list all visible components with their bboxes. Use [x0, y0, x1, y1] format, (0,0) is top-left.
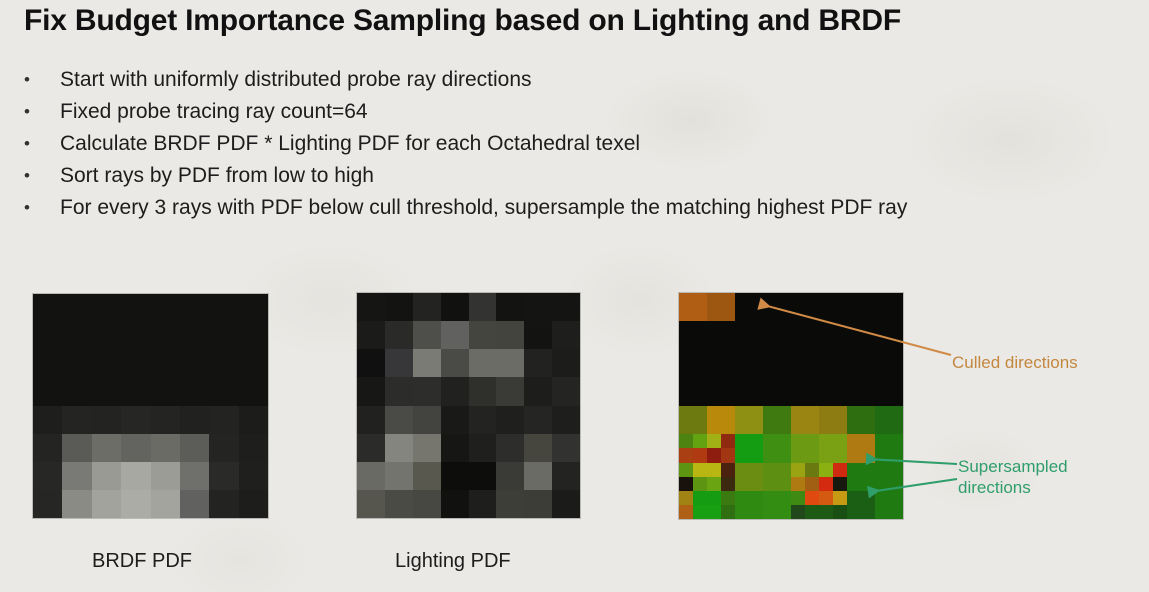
octahedral-subtexel-6-5-0 — [819, 463, 833, 477]
brdf-texel-cell-2-3 — [121, 350, 150, 378]
bullet-marker-icon: • — [24, 192, 60, 224]
octahedral-subtexel-6-1-2 — [707, 477, 721, 491]
octahedral-subtexel-5-1-0 — [707, 434, 721, 448]
octahedral-subtexel-6-0-0 — [679, 463, 693, 477]
brdf-texel-cell-6-5 — [180, 462, 209, 490]
brdf-texel-cell-0-0 — [33, 294, 62, 322]
lighting-texel-cell-4-6 — [524, 406, 552, 434]
supersampled-texel-group — [707, 463, 735, 491]
lighting-texel-cell-4-7 — [552, 406, 580, 434]
bullet-text: For every 3 rays with PDF below cull thr… — [60, 192, 1139, 224]
octahedral-texel-4-0 — [679, 406, 707, 434]
brdf-texel-cell-6-6 — [209, 462, 238, 490]
octahedral-subtexel-7-4-3 — [805, 505, 819, 519]
brdf-texel-cell-2-4 — [151, 350, 180, 378]
brdf-texel-cell-0-5 — [180, 294, 209, 322]
brdf-texel-cell-2-6 — [209, 350, 238, 378]
octahedral-texel-1-5 — [819, 321, 847, 349]
octahedral-subtexel-7-4-0 — [791, 491, 805, 505]
brdf-texel-cell-3-6 — [209, 378, 238, 406]
supersampled-texel-group — [791, 491, 819, 519]
brdf-texel-cell-0-7 — [239, 294, 268, 322]
octahedral-texel-2-3 — [763, 350, 791, 378]
lighting-texel-cell-0-6 — [524, 293, 552, 321]
octahedral-texel-2-1 — [707, 350, 735, 378]
lighting-texel-cell-0-5 — [496, 293, 524, 321]
bullet-list: • Start with uniformly distributed probe… — [24, 64, 1139, 224]
supersampled-texel-group — [791, 463, 819, 491]
brdf-texel-cell-1-7 — [239, 322, 268, 350]
brdf-pdf-caption: BRDF PDF — [92, 550, 192, 573]
lighting-texel-cell-3-1 — [385, 377, 413, 405]
brdf-texel-cell-4-2 — [92, 406, 121, 434]
lighting-texel-cell-4-1 — [385, 406, 413, 434]
lighting-texel-cell-7-0 — [357, 490, 385, 518]
octahedral-texel-5-3 — [763, 434, 791, 462]
octahedral-texel-7-3 — [763, 491, 791, 519]
lighting-texel-cell-1-3 — [441, 321, 469, 349]
lighting-texel-cell-1-1 — [385, 321, 413, 349]
lighting-texel-cell-6-3 — [441, 462, 469, 490]
octahedral-texel-2-4 — [791, 350, 819, 378]
brdf-texel-cell-4-6 — [209, 406, 238, 434]
bullet-text: Calculate BRDF PDF * Lighting PDF for ea… — [60, 128, 1139, 160]
octahedral-texel-0-2 — [735, 293, 763, 321]
lighting-texel-cell-7-2 — [413, 490, 441, 518]
lighting-texel-cell-0-4 — [469, 293, 497, 321]
lighting-texel-cell-1-0 — [357, 321, 385, 349]
lighting-texel-cell-0-1 — [385, 293, 413, 321]
lighting-texel-cell-5-7 — [552, 434, 580, 462]
brdf-texel-cell-7-5 — [180, 490, 209, 518]
supersampled-texel-group — [679, 491, 707, 519]
octahedral-texel-0-3 — [763, 293, 791, 321]
octahedral-texel-5-4 — [791, 434, 819, 462]
lighting-texel-cell-2-7 — [552, 349, 580, 377]
bullet-text: Start with uniformly distributed probe r… — [60, 64, 1139, 96]
lighting-texel-cell-3-0 — [357, 377, 385, 405]
brdf-texel-cell-6-4 — [151, 462, 180, 490]
supersampled-texel-group — [679, 463, 707, 491]
bullet-marker-icon: • — [24, 64, 60, 96]
octahedral-subtexel-7-0-3 — [693, 505, 707, 519]
brdf-texel-cell-2-7 — [239, 350, 268, 378]
octahedral-texel-7-2 — [735, 491, 763, 519]
octahedral-subtexel-6-0-1 — [693, 463, 707, 477]
lighting-texel-cell-5-4 — [469, 434, 497, 462]
brdf-texel-cell-2-1 — [62, 350, 91, 378]
lighting-texel-cell-5-0 — [357, 434, 385, 462]
octahedral-map-image — [679, 293, 903, 519]
octahedral-texel-4-2 — [735, 406, 763, 434]
octahedral-texel-3-2 — [735, 378, 763, 406]
brdf-texel-cell-7-6 — [209, 490, 238, 518]
supersampled-texel-group — [819, 491, 847, 519]
octahedral-subtexel-7-0-2 — [679, 505, 693, 519]
octahedral-texel-0-5 — [819, 293, 847, 321]
octahedral-subtexel-7-5-3 — [833, 505, 847, 519]
octahedral-texel-1-6 — [847, 321, 875, 349]
octahedral-subtexel-5-0-1 — [693, 434, 707, 448]
octahedral-texel-2-0 — [679, 350, 707, 378]
list-item: • For every 3 rays with PDF below cull t… — [24, 192, 1139, 224]
octahedral-subtexel-7-1-0 — [707, 491, 721, 505]
supersampled-label-line1: Supersampled — [958, 456, 1068, 477]
octahedral-texel-6-0 — [679, 463, 707, 491]
octahedral-texel-3-1 — [707, 378, 735, 406]
list-item: • Sort rays by PDF from low to high — [24, 160, 1139, 192]
octahedral-subtexel-6-4-2 — [791, 477, 805, 491]
brdf-texel-cell-3-7 — [239, 378, 268, 406]
lighting-texel-cell-5-2 — [413, 434, 441, 462]
octahedral-texel-7-7 — [875, 491, 903, 519]
lighting-texel-cell-7-4 — [469, 490, 497, 518]
lighting-texel-cell-3-3 — [441, 377, 469, 405]
octahedral-texel-7-5 — [819, 491, 847, 519]
octahedral-map-grid — [679, 293, 903, 519]
slide-title: Fix Budget Importance Sampling based on … — [24, 4, 1134, 38]
brdf-texel-cell-6-0 — [33, 462, 62, 490]
octahedral-texel-7-1 — [707, 491, 735, 519]
brdf-texel-cell-5-5 — [180, 434, 209, 462]
lighting-texel-cell-5-1 — [385, 434, 413, 462]
octahedral-texel-0-0 — [679, 293, 707, 321]
lighting-texel-cell-6-0 — [357, 462, 385, 490]
octahedral-texel-6-7 — [875, 463, 903, 491]
lighting-texel-cell-3-4 — [469, 377, 497, 405]
octahedral-subtexel-6-4-0 — [791, 463, 805, 477]
octahedral-texel-3-3 — [763, 378, 791, 406]
octahedral-texel-6-5 — [819, 463, 847, 491]
lighting-pdf-grid — [357, 293, 580, 518]
brdf-texel-cell-7-3 — [121, 490, 150, 518]
lighting-texel-cell-2-5 — [496, 349, 524, 377]
lighting-texel-cell-5-6 — [524, 434, 552, 462]
octahedral-texel-6-2 — [735, 463, 763, 491]
octahedral-subtexel-6-1-0 — [707, 463, 721, 477]
octahedral-texel-0-4 — [791, 293, 819, 321]
octahedral-subtexel-7-4-1 — [805, 491, 819, 505]
octahedral-texel-1-7 — [875, 321, 903, 349]
brdf-texel-cell-7-0 — [33, 490, 62, 518]
octahedral-texel-4-1 — [707, 406, 735, 434]
octahedral-texel-3-6 — [847, 378, 875, 406]
brdf-texel-cell-5-6 — [209, 434, 238, 462]
brdf-texel-cell-2-5 — [180, 350, 209, 378]
octahedral-texel-7-6 — [847, 491, 875, 519]
octahedral-subtexel-7-5-2 — [819, 505, 833, 519]
supersampled-texel-group — [679, 434, 707, 462]
octahedral-texel-3-5 — [819, 378, 847, 406]
octahedral-texel-4-4 — [791, 406, 819, 434]
lighting-texel-cell-4-4 — [469, 406, 497, 434]
octahedral-texel-6-1 — [707, 463, 735, 491]
brdf-texel-cell-3-1 — [62, 378, 91, 406]
octahedral-texel-5-5 — [819, 434, 847, 462]
octahedral-texel-5-1 — [707, 434, 735, 462]
brdf-pdf-image — [33, 294, 268, 518]
octahedral-texel-3-0 — [679, 378, 707, 406]
lighting-texel-cell-2-3 — [441, 349, 469, 377]
octahedral-subtexel-6-4-3 — [805, 477, 819, 491]
octahedral-subtexel-5-1-2 — [707, 448, 721, 462]
lighting-texel-cell-2-2 — [413, 349, 441, 377]
supersampled-texel-group — [819, 463, 847, 491]
octahedral-subtexel-6-5-3 — [833, 477, 847, 491]
octahedral-texel-0-7 — [875, 293, 903, 321]
brdf-texel-cell-1-6 — [209, 322, 238, 350]
octahedral-texel-3-4 — [791, 378, 819, 406]
brdf-texel-cell-4-7 — [239, 406, 268, 434]
brdf-texel-cell-4-0 — [33, 406, 62, 434]
octahedral-texel-1-1 — [707, 321, 735, 349]
brdf-texel-cell-1-1 — [62, 322, 91, 350]
octahedral-subtexel-6-5-2 — [819, 477, 833, 491]
lighting-texel-cell-2-4 — [469, 349, 497, 377]
lighting-texel-cell-4-0 — [357, 406, 385, 434]
bullet-marker-icon: • — [24, 96, 60, 128]
lighting-texel-cell-1-4 — [469, 321, 497, 349]
brdf-texel-cell-5-2 — [92, 434, 121, 462]
lighting-texel-cell-7-5 — [496, 490, 524, 518]
lighting-texel-cell-6-1 — [385, 462, 413, 490]
brdf-texel-cell-3-2 — [92, 378, 121, 406]
lighting-texel-cell-0-7 — [552, 293, 580, 321]
brdf-texel-cell-2-0 — [33, 350, 62, 378]
lighting-pdf-image — [357, 293, 580, 518]
brdf-texel-cell-7-1 — [62, 490, 91, 518]
lighting-texel-cell-3-6 — [524, 377, 552, 405]
lighting-texel-cell-3-2 — [413, 377, 441, 405]
octahedral-texel-2-6 — [847, 350, 875, 378]
brdf-texel-cell-0-2 — [92, 294, 121, 322]
octahedral-subtexel-6-0-2 — [679, 477, 693, 491]
lighting-texel-cell-7-6 — [524, 490, 552, 518]
brdf-pdf-grid — [33, 294, 268, 518]
culled-directions-label: Culled directions — [952, 352, 1078, 373]
brdf-texel-cell-6-1 — [62, 462, 91, 490]
brdf-texel-cell-6-2 — [92, 462, 121, 490]
lighting-texel-cell-4-2 — [413, 406, 441, 434]
brdf-texel-cell-3-0 — [33, 378, 62, 406]
octahedral-subtexel-7-5-1 — [833, 491, 847, 505]
lighting-texel-cell-6-2 — [413, 462, 441, 490]
brdf-texel-cell-4-5 — [180, 406, 209, 434]
octahedral-texel-0-6 — [847, 293, 875, 321]
octahedral-texel-2-2 — [735, 350, 763, 378]
octahedral-subtexel-5-1-1 — [721, 434, 735, 448]
octahedral-texel-2-7 — [875, 350, 903, 378]
lighting-texel-cell-2-6 — [524, 349, 552, 377]
lighting-texel-cell-3-7 — [552, 377, 580, 405]
brdf-texel-cell-3-5 — [180, 378, 209, 406]
brdf-texel-cell-1-3 — [121, 322, 150, 350]
list-item: • Calculate BRDF PDF * Lighting PDF for … — [24, 128, 1139, 160]
octahedral-texel-1-3 — [763, 321, 791, 349]
octahedral-texel-5-7 — [875, 434, 903, 462]
octahedral-texel-5-6 — [847, 434, 875, 462]
brdf-texel-cell-6-3 — [121, 462, 150, 490]
brdf-texel-cell-6-7 — [239, 462, 268, 490]
brdf-texel-cell-7-4 — [151, 490, 180, 518]
brdf-texel-cell-0-6 — [209, 294, 238, 322]
supersampled-texel-group — [707, 491, 735, 519]
lighting-pdf-caption: Lighting PDF — [395, 550, 511, 573]
lighting-texel-cell-2-0 — [357, 349, 385, 377]
octahedral-texel-4-7 — [875, 406, 903, 434]
octahedral-texel-2-5 — [819, 350, 847, 378]
list-item: • Fixed probe tracing ray count=64 — [24, 96, 1139, 128]
octahedral-texel-5-2 — [735, 434, 763, 462]
bullet-text: Fixed probe tracing ray count=64 — [60, 96, 1139, 128]
brdf-texel-cell-1-5 — [180, 322, 209, 350]
lighting-texel-cell-7-7 — [552, 490, 580, 518]
octahedral-subtexel-7-1-1 — [721, 491, 735, 505]
bullet-marker-icon: • — [24, 128, 60, 160]
brdf-texel-cell-5-7 — [239, 434, 268, 462]
octahedral-subtexel-7-4-2 — [791, 505, 805, 519]
octahedral-subtexel-5-1-3 — [721, 448, 735, 462]
brdf-texel-cell-0-4 — [151, 294, 180, 322]
octahedral-texel-4-3 — [763, 406, 791, 434]
bullet-text: Sort rays by PDF from low to high — [60, 160, 1139, 192]
brdf-texel-cell-2-2 — [92, 350, 121, 378]
brdf-texel-cell-5-1 — [62, 434, 91, 462]
octahedral-subtexel-7-0-0 — [679, 491, 693, 505]
brdf-texel-cell-1-0 — [33, 322, 62, 350]
brdf-texel-cell-7-2 — [92, 490, 121, 518]
octahedral-texel-1-4 — [791, 321, 819, 349]
lighting-texel-cell-0-2 — [413, 293, 441, 321]
octahedral-subtexel-5-0-2 — [679, 448, 693, 462]
octahedral-texel-1-2 — [735, 321, 763, 349]
lighting-texel-cell-0-3 — [441, 293, 469, 321]
octahedral-subtexel-7-1-2 — [707, 505, 721, 519]
brdf-texel-cell-1-4 — [151, 322, 180, 350]
octahedral-subtexel-6-1-1 — [721, 463, 735, 477]
octahedral-texel-4-6 — [847, 406, 875, 434]
lighting-texel-cell-3-5 — [496, 377, 524, 405]
octahedral-subtexel-7-5-0 — [819, 491, 833, 505]
lighting-texel-cell-4-3 — [441, 406, 469, 434]
lighting-texel-cell-6-4 — [469, 462, 497, 490]
brdf-texel-cell-7-7 — [239, 490, 268, 518]
brdf-texel-cell-4-4 — [151, 406, 180, 434]
brdf-texel-cell-1-2 — [92, 322, 121, 350]
brdf-texel-cell-0-1 — [62, 294, 91, 322]
lighting-texel-cell-7-3 — [441, 490, 469, 518]
lighting-texel-cell-2-1 — [385, 349, 413, 377]
octahedral-texel-4-5 — [819, 406, 847, 434]
brdf-texel-cell-5-4 — [151, 434, 180, 462]
brdf-texel-cell-4-1 — [62, 406, 91, 434]
octahedral-subtexel-5-0-3 — [693, 448, 707, 462]
supersampled-label-line2: directions — [958, 477, 1068, 498]
octahedral-subtexel-6-0-3 — [693, 477, 707, 491]
supersampled-texel-group — [707, 434, 735, 462]
octahedral-texel-7-0 — [679, 491, 707, 519]
lighting-texel-cell-7-1 — [385, 490, 413, 518]
lighting-texel-cell-4-5 — [496, 406, 524, 434]
octahedral-texel-5-0 — [679, 434, 707, 462]
octahedral-texel-6-6 — [847, 463, 875, 491]
octahedral-texel-3-7 — [875, 378, 903, 406]
lighting-texel-cell-0-0 — [357, 293, 385, 321]
lighting-texel-cell-5-5 — [496, 434, 524, 462]
brdf-texel-cell-3-3 — [121, 378, 150, 406]
brdf-texel-cell-5-0 — [33, 434, 62, 462]
lighting-texel-cell-1-5 — [496, 321, 524, 349]
octahedral-subtexel-6-1-3 — [721, 477, 735, 491]
octahedral-subtexel-6-5-1 — [833, 463, 847, 477]
octahedral-subtexel-7-1-3 — [721, 505, 735, 519]
bullet-marker-icon: • — [24, 160, 60, 192]
octahedral-texel-7-4 — [791, 491, 819, 519]
octahedral-texel-6-3 — [763, 463, 791, 491]
lighting-texel-cell-1-7 — [552, 321, 580, 349]
octahedral-subtexel-5-0-0 — [679, 434, 693, 448]
brdf-texel-cell-4-3 — [121, 406, 150, 434]
brdf-texel-cell-3-4 — [151, 378, 180, 406]
octahedral-subtexel-7-0-1 — [693, 491, 707, 505]
lighting-texel-cell-6-6 — [524, 462, 552, 490]
octahedral-texel-1-0 — [679, 321, 707, 349]
lighting-texel-cell-5-3 — [441, 434, 469, 462]
lighting-texel-cell-6-7 — [552, 462, 580, 490]
lighting-texel-cell-6-5 — [496, 462, 524, 490]
lighting-texel-cell-1-6 — [524, 321, 552, 349]
brdf-texel-cell-5-3 — [121, 434, 150, 462]
brdf-texel-cell-0-3 — [121, 294, 150, 322]
octahedral-texel-0-1 — [707, 293, 735, 321]
supersampled-directions-label: Supersampled directions — [958, 456, 1068, 498]
octahedral-subtexel-6-4-1 — [805, 463, 819, 477]
lighting-texel-cell-1-2 — [413, 321, 441, 349]
octahedral-texel-6-4 — [791, 463, 819, 491]
list-item: • Start with uniformly distributed probe… — [24, 64, 1139, 96]
